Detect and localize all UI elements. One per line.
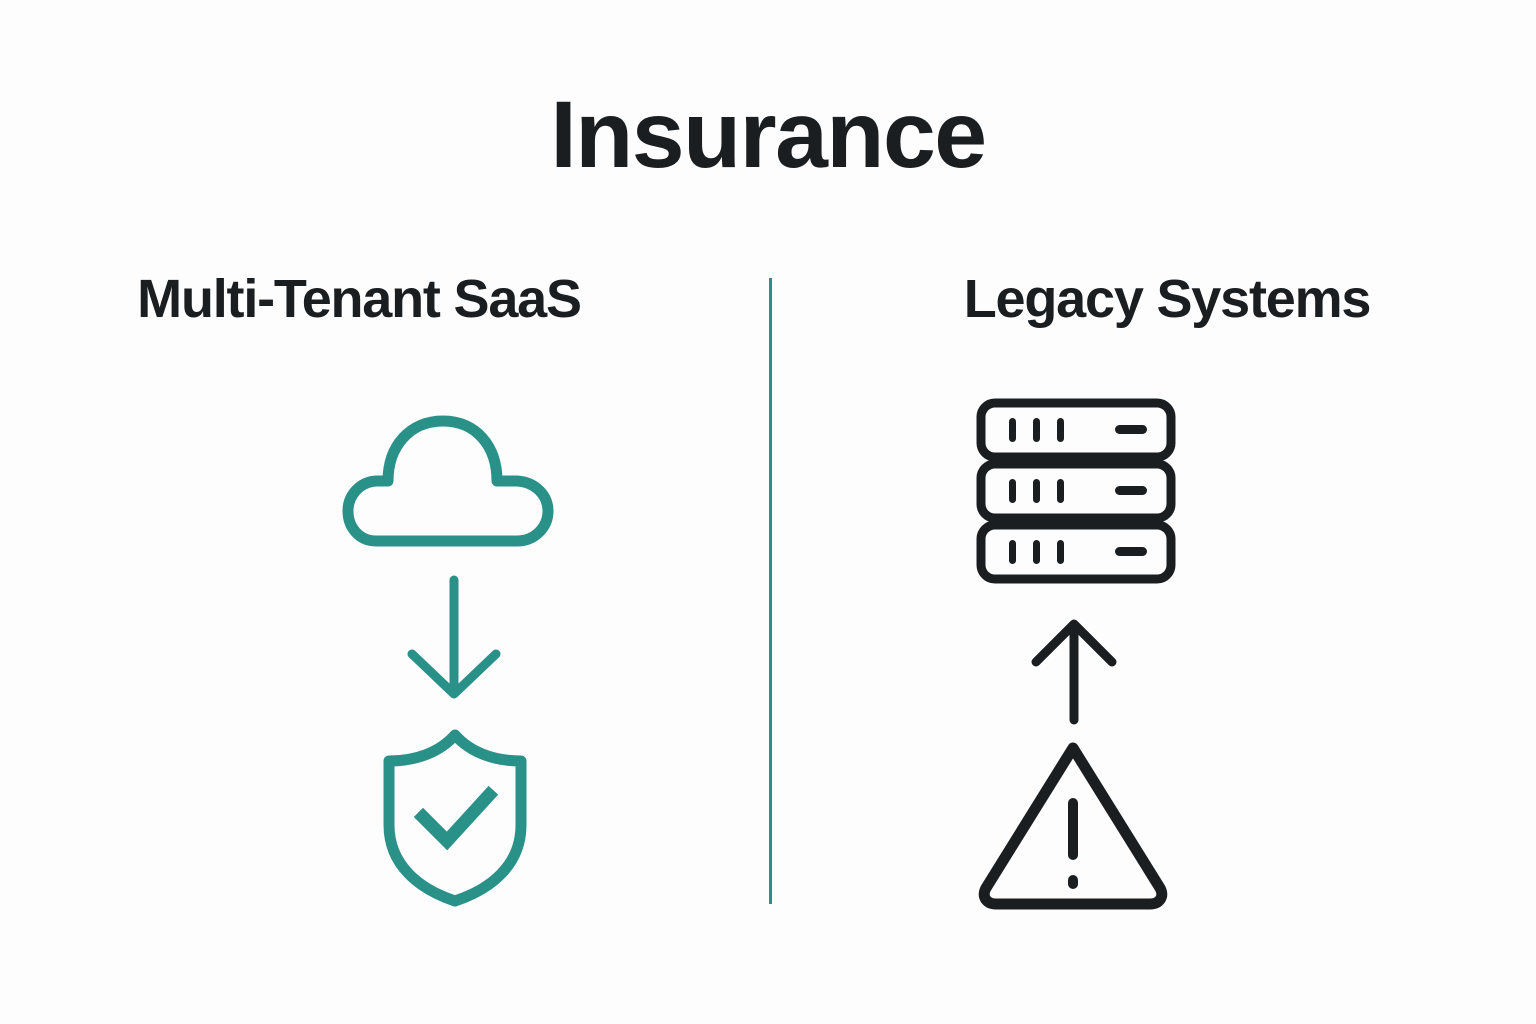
cloud-icon <box>340 403 570 553</box>
slide-canvas: Insurance Multi-Tenant SaaS Legacy Sys <box>0 0 1536 1024</box>
server-stack-icon <box>970 392 1182 588</box>
warning-triangle-icon <box>970 732 1176 912</box>
page-title: Insurance <box>0 88 1536 183</box>
vertical-divider <box>769 278 772 904</box>
shield-check-icon <box>375 725 535 910</box>
column-heading-multi-tenant-saas: Multi-Tenant SaaS <box>0 270 740 329</box>
column-heading-legacy-systems: Legacy Systems <box>800 270 1520 329</box>
arrow-down-icon <box>398 570 510 705</box>
arrow-up-icon <box>1022 614 1126 730</box>
